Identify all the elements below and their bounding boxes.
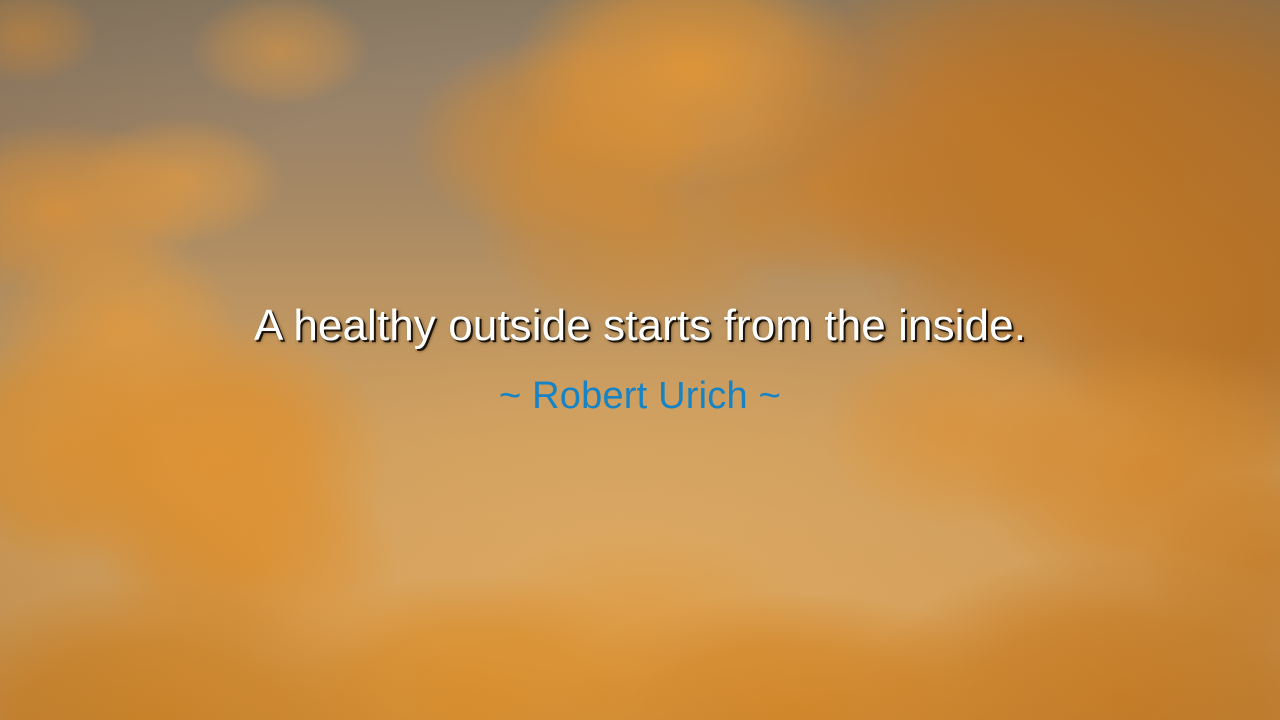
cloud-bottom-ridge (0, 0, 1280, 720)
wallpaper-canvas: A healthy outside starts from the inside… (0, 0, 1280, 720)
